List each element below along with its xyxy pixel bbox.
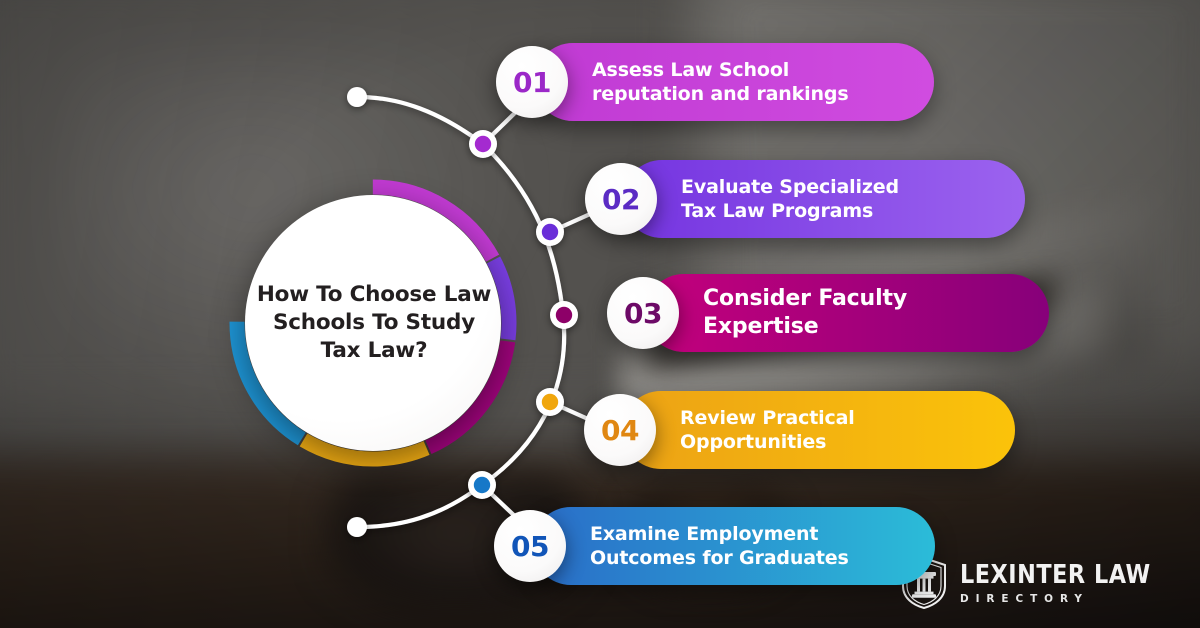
step-row-04[interactable]: 04 Review Practical Opportunities: [584, 391, 1015, 469]
step-pill-04[interactable]: Review Practical Opportunities: [622, 391, 1015, 469]
step-number-03: 03: [624, 297, 662, 330]
hub-disc: How To Choose Law Schools To Study Tax L…: [245, 195, 501, 451]
step-badge-01[interactable]: 01: [496, 46, 568, 118]
step-row-05[interactable]: 05 Examine Employment Outcomes for Gradu…: [494, 507, 935, 585]
step-text-03: Consider Faculty Expertise: [703, 285, 907, 341]
step-text-05: Examine Employment Outcomes for Graduate…: [590, 522, 849, 571]
step-row-03[interactable]: 03 Consider Faculty Expertise: [607, 274, 1049, 352]
step-badge-02[interactable]: 02: [585, 163, 657, 235]
step-number-01: 01: [513, 66, 551, 99]
step-number-04: 04: [601, 414, 639, 447]
step-badge-04[interactable]: 04: [584, 394, 656, 466]
brand-logo[interactable]: LEXINTER LAW DIRECTORY: [899, 556, 1182, 610]
step-pill-03[interactable]: Consider Faculty Expertise: [645, 274, 1049, 352]
center-hub: How To Choose Law Schools To Study Tax L…: [228, 178, 518, 468]
step-number-05: 05: [511, 530, 549, 563]
logo-sub-text: DIRECTORY: [960, 593, 1171, 604]
step-number-02: 02: [602, 183, 640, 216]
step-pill-05[interactable]: Examine Employment Outcomes for Graduate…: [532, 507, 935, 585]
step-row-01[interactable]: 01 Assess Law School reputation and rank…: [496, 43, 934, 121]
step-text-04: Review Practical Opportunities: [680, 406, 855, 455]
step-row-02[interactable]: 02 Evaluate Specialized Tax Law Programs: [585, 160, 1025, 238]
hub-title: How To Choose Law Schools To Study Tax L…: [252, 281, 496, 365]
logo-main-text: LEXINTER LAW: [960, 562, 1151, 588]
step-text-01: Assess Law School reputation and ranking…: [592, 58, 849, 107]
step-pill-01[interactable]: Assess Law School reputation and ranking…: [534, 43, 934, 121]
step-pill-02[interactable]: Evaluate Specialized Tax Law Programs: [623, 160, 1025, 238]
step-badge-03[interactable]: 03: [607, 277, 679, 349]
step-badge-05[interactable]: 05: [494, 510, 566, 582]
step-text-02: Evaluate Specialized Tax Law Programs: [681, 175, 899, 224]
